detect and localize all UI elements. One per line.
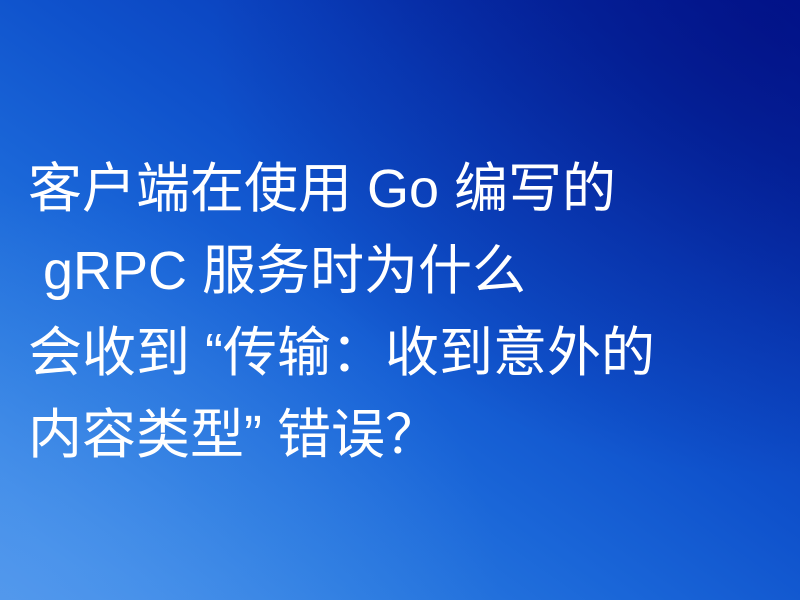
- banner-line-4: 内容类型” 错误？: [28, 394, 780, 476]
- banner-card: 客户端在使用 Go 编写的 gRPC 服务时为什么 会收到 “传输：收到意外的 …: [0, 0, 800, 600]
- banner-title-text: 客户端在使用 Go 编写的 gRPC 服务时为什么 会收到 “传输：收到意外的 …: [28, 148, 780, 476]
- banner-line-2: gRPC 服务时为什么: [28, 230, 780, 312]
- banner-line-3: 会收到 “传输：收到意外的: [28, 312, 780, 394]
- banner-line-1: 客户端在使用 Go 编写的: [28, 148, 780, 230]
